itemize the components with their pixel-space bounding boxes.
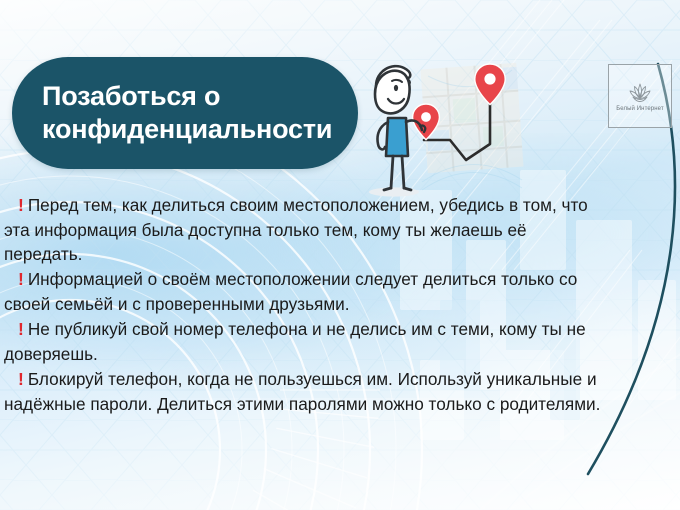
exclamation-bullet-icon: ! xyxy=(18,369,28,389)
list-item: !Не публикуй свой номер телефона и не де… xyxy=(4,317,604,366)
exclamation-bullet-icon: ! xyxy=(18,269,28,289)
list-item: !Блокируй телефон, когда не пользуешься … xyxy=(4,367,604,416)
list-item-text: Блокируй телефон, когда не пользуешься и… xyxy=(4,369,600,414)
body-text: !Перед тем, как делиться своим местополо… xyxy=(4,193,604,417)
list-item-text: Не публикуй свой номер телефона и не дел… xyxy=(4,319,586,364)
logo-caption: Белый Интернет xyxy=(616,106,664,112)
page-title: Позаботься о конфиденциальности xyxy=(42,80,332,146)
illustration-person-with-map xyxy=(362,52,527,200)
title-badge: Позаботься о конфиденциальности xyxy=(12,57,358,169)
list-item: !Перед тем, как делиться своим местополо… xyxy=(4,193,604,266)
logo-box: Белый Интернет xyxy=(608,64,672,128)
list-item-text: Информацией о своём местоположении следу… xyxy=(4,269,577,314)
exclamation-bullet-icon: ! xyxy=(18,195,28,215)
slide-canvas: Позаботься о конфиденциальности xyxy=(0,0,680,510)
list-item: !Информацией о своём местоположении след… xyxy=(4,267,604,316)
lotus-flower-icon xyxy=(627,81,653,105)
list-item-text: Перед тем, как делиться своим местополож… xyxy=(4,195,588,264)
exclamation-bullet-icon: ! xyxy=(18,319,28,339)
